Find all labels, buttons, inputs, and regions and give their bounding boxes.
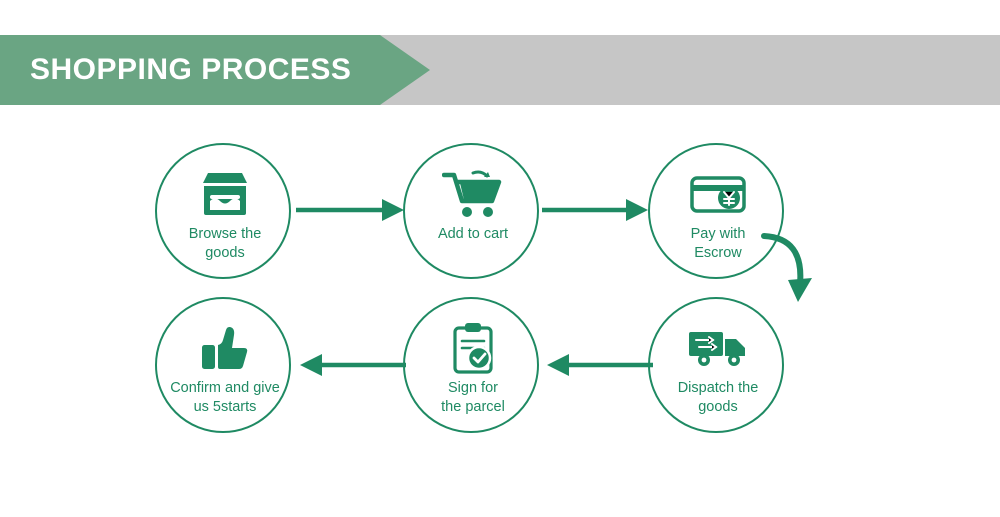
step-label-sign: Sign for the parcel (393, 379, 553, 417)
arrow-pay-to-dispatch (760, 232, 830, 322)
step-label-confirm: Confirm and give us 5starts (145, 379, 305, 417)
thumbs-up-icon (157, 321, 293, 375)
arrow-cart-to-pay (542, 193, 652, 227)
shopping-cart-icon (405, 167, 541, 221)
step-label-cart: Add to cart (393, 225, 553, 244)
step-node-confirm: Confirm and give us 5starts (155, 297, 291, 433)
step-node-cart: Add to cart (403, 143, 539, 279)
arrow-sign-to-confirm (298, 348, 406, 382)
delivery-truck-icon (650, 321, 786, 375)
credit-card-yen-icon (650, 167, 786, 221)
step-node-sign: Sign for the parcel (403, 297, 539, 433)
step-node-browse: Browse the goods (155, 143, 291, 279)
step-label-browse: Browse the goods (145, 225, 305, 263)
storefront-icon (157, 167, 293, 221)
page-title: SHOPPING PROCESS (30, 35, 351, 105)
arrow-browse-to-cart (296, 193, 406, 227)
shopping-process-infographic: SHOPPING PROCESS Browse the goods Add (0, 0, 1000, 517)
clipboard-check-icon (405, 321, 541, 375)
step-label-dispatch: Dispatch the goods (638, 379, 798, 417)
arrow-dispatch-to-sign (545, 348, 653, 382)
